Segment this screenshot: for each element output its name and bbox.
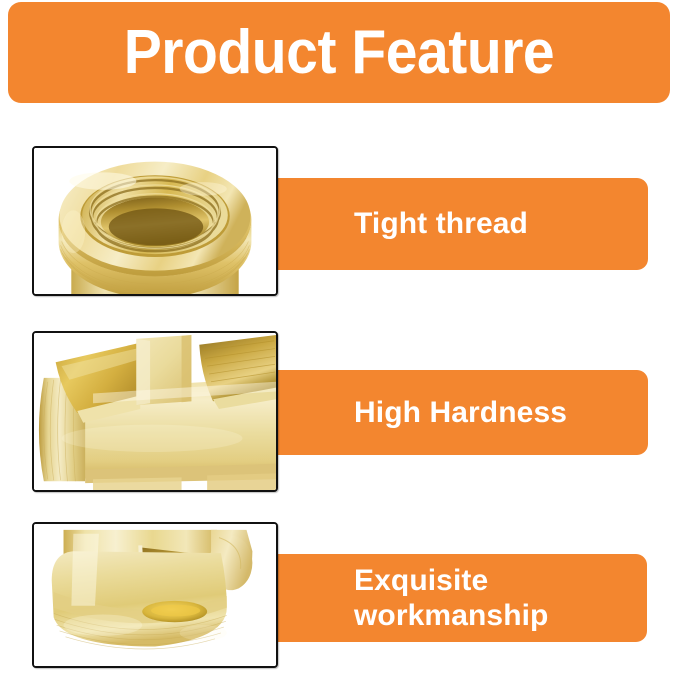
feature-image-panel: Close-up of solid brass tee body side wa…: [32, 331, 278, 492]
brass-fitting-base-photo: [34, 524, 276, 666]
page-title: Product Feature: [124, 22, 554, 84]
feature-row: Exquisite workmanship: [0, 522, 679, 669]
brass-tee-body-photo: [34, 333, 276, 490]
feature-label-badge: Tight thread: [256, 178, 648, 270]
feature-image-panel: Close-up of machined brass fitting base …: [32, 522, 278, 668]
feature-label-text: High Hardness: [256, 396, 567, 430]
feature-label-badge: High Hardness: [256, 370, 648, 455]
product-feature-infographic: Product Feature Tight thread: [0, 0, 679, 676]
brass-threaded-port-photo: [34, 148, 276, 294]
header-banner: Product Feature: [8, 2, 670, 103]
feature-image-panel: Close-up of brass fitting internal threa…: [32, 146, 278, 296]
feature-row: High Hardness: [0, 331, 679, 493]
feature-label-text: Tight thread: [256, 207, 528, 241]
feature-row: Tight thread: [0, 146, 679, 297]
feature-label-text: Exquisite workmanship: [256, 563, 548, 634]
feature-label-badge: Exquisite workmanship: [256, 554, 647, 642]
